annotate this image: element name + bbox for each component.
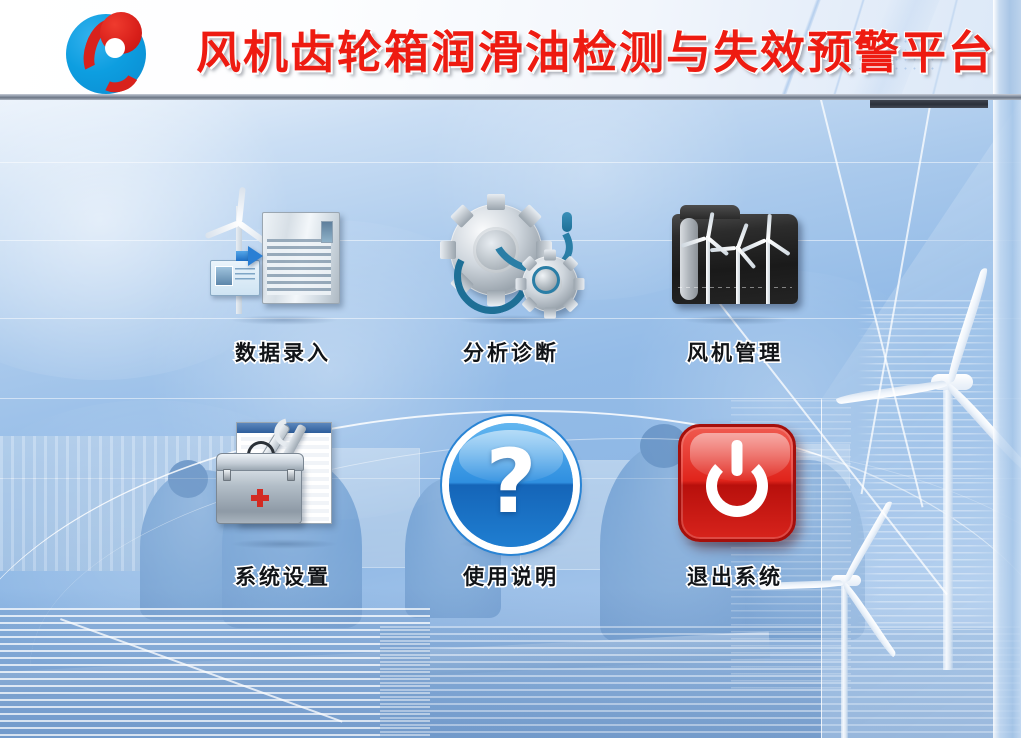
stethoscope-earpiece bbox=[562, 212, 572, 232]
turbine-blade bbox=[767, 238, 791, 256]
toolbox-latch bbox=[223, 469, 231, 481]
power-ring bbox=[706, 455, 768, 517]
folder-stitching bbox=[678, 287, 792, 288]
header-divider bbox=[0, 94, 1021, 100]
application-root: 风机齿轮箱润滑油检测与失效预警平台 bbox=[0, 0, 1021, 738]
menu-item-label: 数据录入 bbox=[235, 337, 331, 367]
menu-item-exit-system[interactable]: 退出系统 bbox=[622, 410, 848, 630]
turbine-blade bbox=[236, 187, 246, 223]
turbine-tower bbox=[736, 246, 740, 304]
turbine-blade bbox=[204, 220, 240, 239]
question-glyph: ? bbox=[485, 438, 536, 526]
power-off-icon bbox=[660, 418, 810, 553]
import-arrow-head bbox=[248, 246, 263, 266]
menu-item-label: 分析诊断 bbox=[463, 337, 559, 367]
red-cross-icon bbox=[251, 495, 269, 501]
menu-item-turbine-manage[interactable]: 风机管理 bbox=[622, 186, 848, 406]
app-header: 风机齿轮箱润滑油检测与失效预警平台 bbox=[0, 0, 1021, 100]
menu-item-user-manual[interactable]: ? 使用说明 bbox=[398, 410, 624, 630]
stethoscope-chestpiece bbox=[532, 266, 560, 294]
right-edge-strip bbox=[993, 100, 1021, 738]
folder bbox=[672, 214, 798, 304]
icon-shadow bbox=[682, 315, 790, 325]
menu-item-label: 风机管理 bbox=[687, 337, 783, 367]
header-right-strip bbox=[993, 0, 1021, 100]
toolbox bbox=[216, 464, 302, 524]
toolbox-tools-icon bbox=[208, 418, 358, 553]
server-rack bbox=[262, 212, 340, 304]
main-stage: 数据录入 bbox=[0, 100, 1021, 738]
folder-turbines-icon bbox=[660, 194, 810, 329]
menu-item-system-settings[interactable]: 系统设置 bbox=[170, 410, 396, 630]
server-data-entry-icon bbox=[208, 194, 358, 329]
power-bar bbox=[732, 440, 743, 476]
server-indicator bbox=[321, 221, 333, 243]
turbine-tower bbox=[766, 238, 770, 304]
company-logo bbox=[58, 12, 160, 96]
turbine-tower bbox=[706, 236, 710, 304]
toolbox-latch bbox=[287, 469, 295, 481]
menu-item-label: 使用说明 bbox=[463, 561, 559, 591]
icon-shadow bbox=[230, 539, 338, 549]
menu-item-analysis[interactable]: 分析诊断 bbox=[398, 186, 624, 406]
menu-item-label: 退出系统 bbox=[687, 561, 783, 591]
turbine-blade bbox=[766, 214, 772, 240]
turbine-blade bbox=[741, 238, 766, 252]
menu-item-label: 系统设置 bbox=[235, 561, 331, 591]
icon-shadow bbox=[230, 315, 338, 325]
page-title: 风机齿轮箱润滑油检测与失效预警平台 bbox=[196, 27, 856, 79]
menu-item-data-entry[interactable]: 数据录入 bbox=[170, 186, 396, 406]
gears-stethoscope-icon bbox=[436, 194, 586, 329]
turbine-blade bbox=[736, 223, 749, 249]
header-dark-bar bbox=[870, 100, 988, 108]
background-band-line bbox=[0, 162, 1021, 163]
power-button-square bbox=[678, 424, 796, 542]
question-mark-icon: ? bbox=[436, 418, 586, 553]
main-menu: 数据录入 bbox=[170, 170, 850, 610]
turbine-blade bbox=[842, 582, 897, 659]
question-mark-circle: ? bbox=[449, 423, 573, 547]
